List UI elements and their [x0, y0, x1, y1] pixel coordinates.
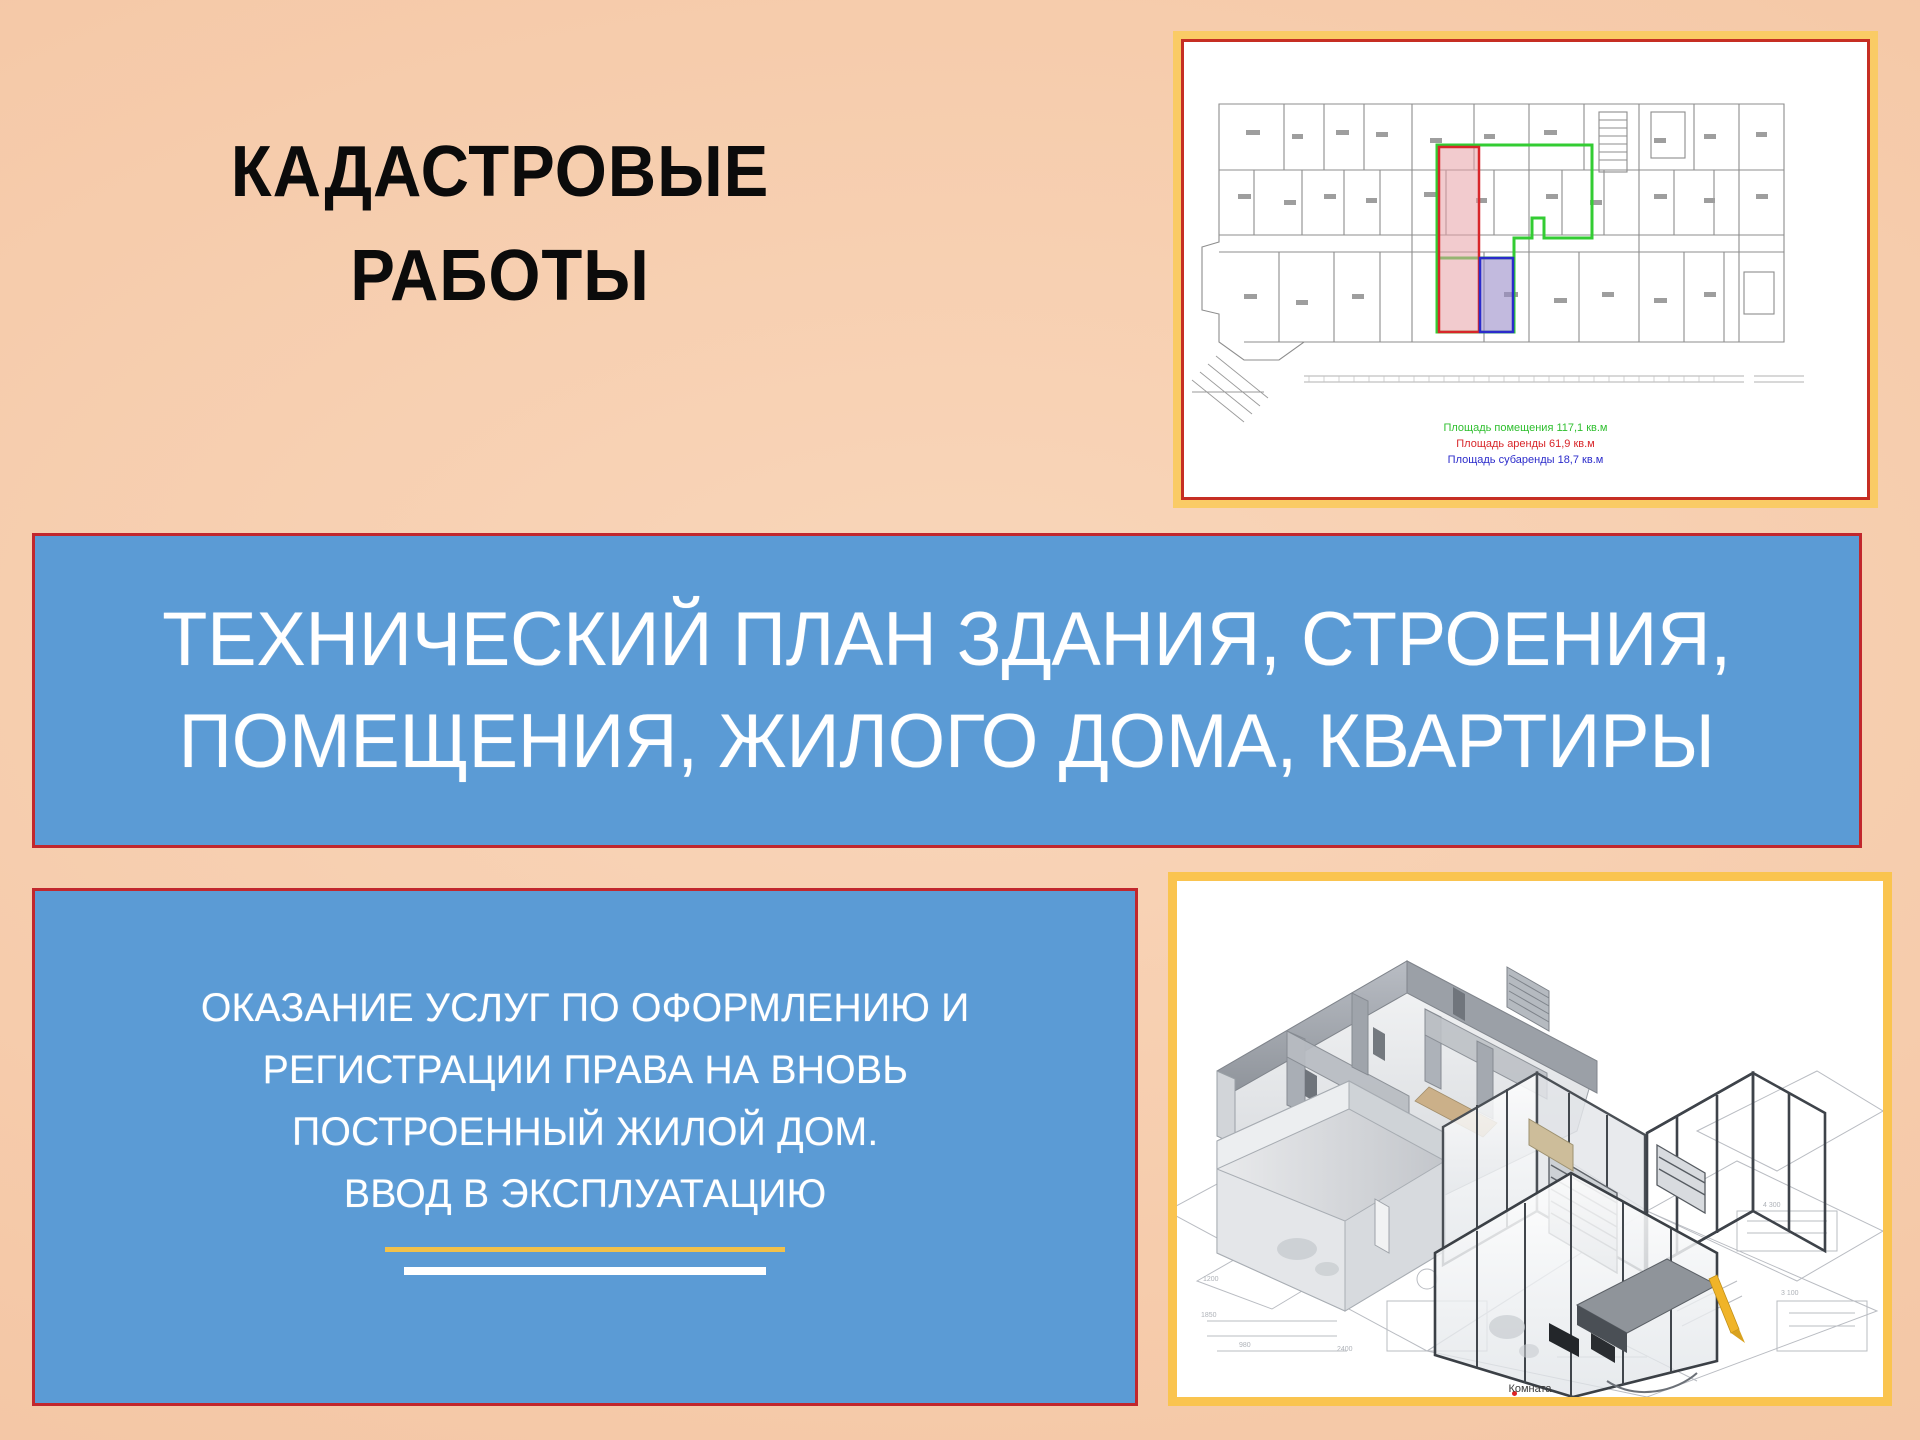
headline-line-1: ТЕХНИЧЕСКИЙ ПЛАН ЗДАНИЯ, СТРОЕНИЯ, — [163, 589, 1732, 690]
svg-text:3 100: 3 100 — [1781, 1290, 1799, 1297]
page-title: КАДАСТРОВЫЕ РАБОТЫ — [150, 120, 850, 329]
render-photo-frame: 12001850 9802400 4 3003 100 — [1168, 872, 1892, 1406]
gold-divider-rule — [385, 1247, 785, 1252]
services-line-3: ПОСТРОЕННЫЙ ЖИЛОЙ ДОМ. — [292, 1101, 878, 1163]
white-divider-rule — [404, 1267, 766, 1275]
headline-line-2: ПОМЕЩЕНИЯ, ЖИЛОГО ДОМА, КВАРТИРЫ — [179, 691, 1715, 792]
services-line-1: ОКАЗАНИЕ УСЛУГ ПО ОФОРМЛЕНИЮ И — [201, 977, 970, 1039]
legend-sublease-area: Площадь субаренды 18,7 кв.м — [1184, 453, 1867, 469]
render-photo-image: 12001850 9802400 4 3003 100 — [1177, 881, 1883, 1397]
house-3d-render-drawing: 12001850 9802400 4 3003 100 — [1177, 881, 1883, 1397]
page-title-line-2: РАБОТЫ — [175, 224, 826, 328]
svg-text:980: 980 — [1239, 1342, 1251, 1349]
headline-banner: ТЕХНИЧЕСКИЙ ПЛАН ЗДАНИЯ, СТРОЕНИЯ, ПОМЕЩ… — [32, 533, 1862, 848]
floor-plan-frame: Площадь помещения 117,1 кв.м Площадь аре… — [1173, 31, 1878, 508]
legend-premises-area: Площадь помещения 117,1 кв.м — [1184, 421, 1867, 437]
svg-text:2400: 2400 — [1337, 1346, 1353, 1353]
floor-plan-legend: Площадь помещения 117,1 кв.м Площадь аре… — [1184, 421, 1867, 469]
page-title-line-1: КАДАСТРОВЫЕ — [175, 120, 826, 224]
svg-text:4 300: 4 300 — [1763, 1202, 1781, 1209]
svg-text:1200: 1200 — [1203, 1276, 1219, 1283]
svg-text:1850: 1850 — [1201, 1312, 1217, 1319]
legend-rent-area: Площадь аренды 61,9 кв.м — [1184, 437, 1867, 453]
render-room-caption: Комната — [1508, 1383, 1551, 1395]
services-line-4: ВВОД В ЭКСПЛУАТАЦИЮ — [344, 1163, 827, 1225]
floor-plan-image: Площадь помещения 117,1 кв.м Площадь аре… — [1181, 39, 1870, 500]
services-line-2: РЕГИСТРАЦИИ ПРАВА НА ВНОВЬ — [262, 1039, 908, 1101]
services-box: ОКАЗАНИЕ УСЛУГ ПО ОФОРМЛЕНИЮ И РЕГИСТРАЦ… — [32, 888, 1138, 1406]
